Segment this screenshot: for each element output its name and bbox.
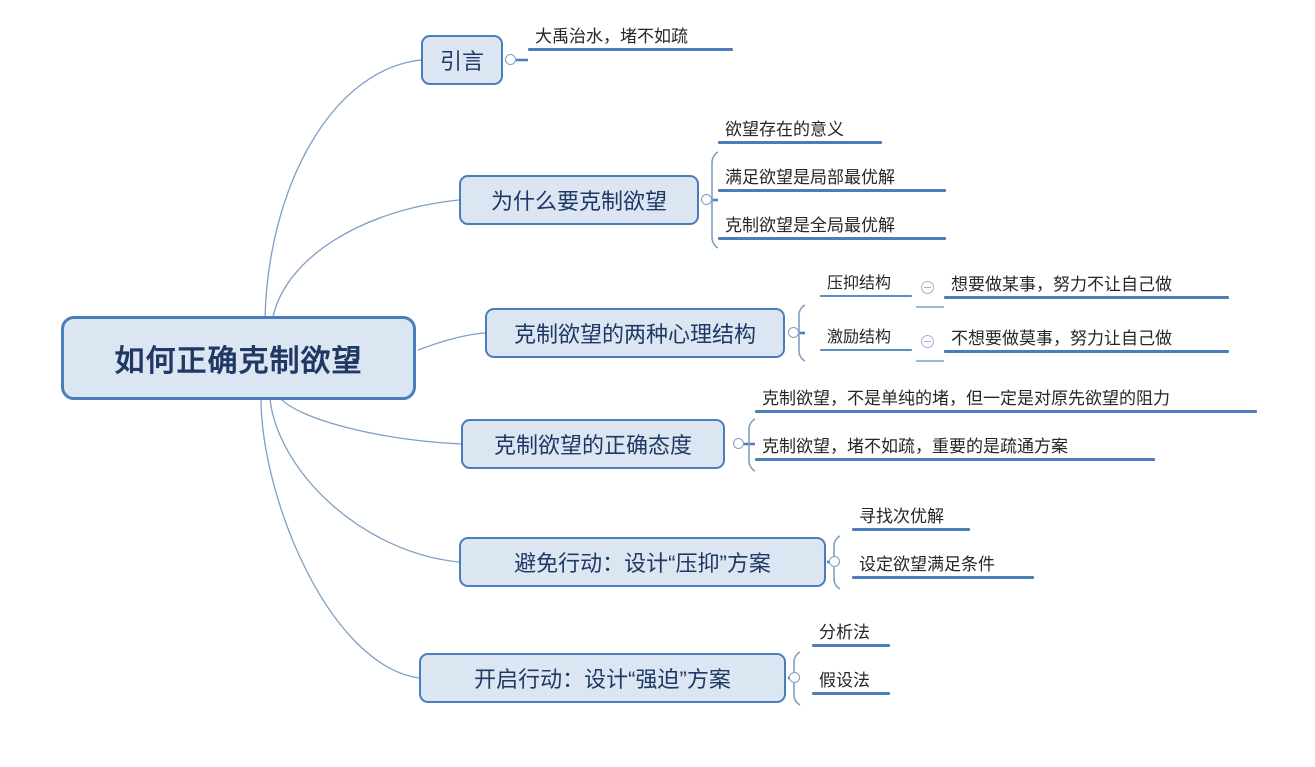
leaf-b3-c2-label: 激励结构 [820, 330, 912, 349]
branch-node-6[interactable]: 开启行动：设计“强迫”方案 [419, 653, 786, 703]
edge-root-to-branch-5 [270, 399, 459, 562]
leaf-b3-c2-rule [820, 349, 912, 351]
leaf-b3-c1[interactable]: 压抑结构 [820, 276, 912, 297]
leaf-b3-c1-g1[interactable]: 想要做某事，努力不让自己做 [944, 276, 1229, 299]
branch-node-5[interactable]: 避免行动：设计“压抑”方案 [459, 537, 826, 587]
leaf-b4-c1-label: 克制欲望，不是单纯的堵，但一定是对原先欲望的阻力 [755, 390, 1257, 410]
leaf-b4-c1[interactable]: 克制欲望，不是单纯的堵，但一定是对原先欲望的阻力 [755, 390, 1257, 413]
leaf-b6-c1-rule [812, 644, 890, 647]
branch-node-3-label: 克制欲望的两种心理结构 [514, 317, 756, 349]
root-node[interactable]: 如何正确克制欲望 [61, 316, 416, 400]
branch-node-4-label: 克制欲望的正确态度 [494, 428, 692, 460]
leaf-b5-c2-label: 设定欲望满足条件 [852, 556, 1034, 576]
branch-node-1-label: 引言 [440, 44, 484, 76]
leaf-b5-c2-rule [852, 576, 1034, 579]
branch-node-1[interactable]: 引言 [421, 35, 503, 85]
leaf-b2-c1[interactable]: 欲望存在的意义 [718, 121, 882, 144]
connector-dot-branch-5[interactable] [829, 556, 840, 567]
leaf-b6-c1-label: 分析法 [812, 624, 890, 644]
connector-dot-branch-2[interactable] [701, 194, 712, 205]
mindmap-canvas: 如何正确克制欲望 引言 大禹治水，堵不如疏 为什么要克制欲望 欲望存在的意义 满… [0, 0, 1315, 767]
leaf-b3-c1-rule [820, 295, 912, 297]
leaf-b1-c1[interactable]: 大禹治水，堵不如疏 [528, 28, 733, 51]
leaf-b2-c2[interactable]: 满足欲望是局部最优解 [718, 169, 946, 192]
leaf-b2-c3[interactable]: 克制欲望是全局最优解 [718, 217, 946, 240]
collapse-icon-b3-c1[interactable] [921, 281, 934, 294]
leaf-b3-c2-g1-rule [944, 350, 1229, 353]
leaf-b2-c2-label: 满足欲望是局部最优解 [718, 169, 946, 189]
branch-node-2-label: 为什么要克制欲望 [491, 184, 667, 216]
leaf-b2-c2-rule [718, 189, 946, 192]
leaf-b4-c2-rule [755, 458, 1155, 461]
leaf-b3-c1-g1-label: 想要做某事，努力不让自己做 [944, 276, 1229, 296]
leaf-b2-c3-rule [718, 237, 946, 240]
leaf-b5-c1-label: 寻找次优解 [852, 508, 970, 528]
edge-branch-3-bracket [799, 305, 805, 361]
leaf-b3-c2-g1[interactable]: 不想要做莫事，努力让自己做 [944, 330, 1229, 353]
leaf-b3-c1-g1-rule [944, 296, 1229, 299]
branch-node-3[interactable]: 克制欲望的两种心理结构 [485, 308, 785, 358]
leaf-b4-c1-rule [755, 410, 1257, 413]
leaf-b5-c1[interactable]: 寻找次优解 [852, 508, 970, 531]
branch-node-5-label: 避免行动：设计“压抑”方案 [514, 546, 771, 578]
leaf-b1-c1-label: 大禹治水，堵不如疏 [528, 28, 733, 48]
root-node-label: 如何正确克制欲望 [115, 336, 363, 380]
edge-root-to-branch-1 [265, 60, 421, 318]
connector-dot-branch-6[interactable] [789, 672, 800, 683]
leaf-b5-c1-rule [852, 528, 970, 531]
connector-dot-branch-1[interactable] [505, 54, 516, 65]
branch-node-6-label: 开启行动：设计“强迫”方案 [474, 662, 731, 694]
edge-root-to-branch-2 [272, 200, 459, 322]
leaf-b2-c1-label: 欲望存在的意义 [718, 121, 882, 141]
leaf-b4-c2-label: 克制欲望，堵不如疏，重要的是疏通方案 [755, 438, 1155, 458]
leaf-b6-c1[interactable]: 分析法 [812, 624, 890, 647]
leaf-b3-c1-label: 压抑结构 [820, 276, 912, 295]
leaf-b6-c2-label: 假设法 [812, 672, 890, 692]
leaf-b6-c2[interactable]: 假设法 [812, 672, 890, 695]
connector-dot-branch-4[interactable] [733, 438, 744, 449]
edge-root-to-branch-3 [418, 333, 485, 350]
branch-node-4[interactable]: 克制欲望的正确态度 [461, 419, 725, 469]
collapse-icon-b3-c2[interactable] [921, 335, 934, 348]
edge-root-to-branch-4 [280, 398, 461, 444]
branch-node-2[interactable]: 为什么要克制欲望 [459, 175, 699, 225]
leaf-b4-c2[interactable]: 克制欲望，堵不如疏，重要的是疏通方案 [755, 438, 1155, 461]
edge-root-to-branch-6 [261, 400, 419, 678]
leaf-b1-c1-rule [528, 48, 733, 51]
leaf-b3-c2[interactable]: 激励结构 [820, 330, 912, 351]
leaf-b6-c2-rule [812, 692, 890, 695]
leaf-b5-c2[interactable]: 设定欲望满足条件 [852, 556, 1034, 579]
leaf-b2-c3-label: 克制欲望是全局最优解 [718, 217, 946, 237]
leaf-b2-c1-rule [718, 141, 882, 144]
connector-dot-branch-3[interactable] [788, 327, 799, 338]
leaf-b3-c2-g1-label: 不想要做莫事，努力让自己做 [944, 330, 1229, 350]
